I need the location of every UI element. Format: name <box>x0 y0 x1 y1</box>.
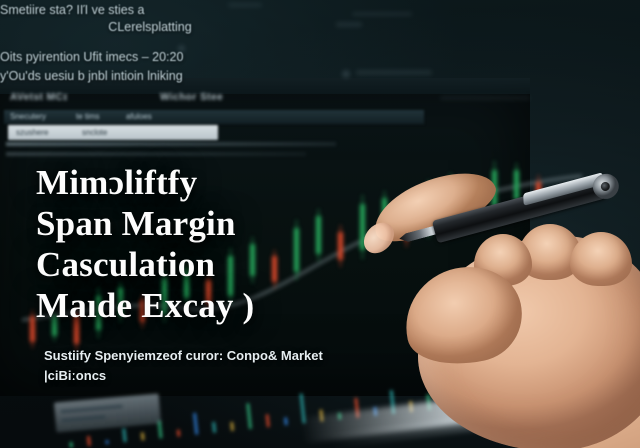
volume-bar <box>105 440 108 444</box>
tooltip-line-2 <box>61 415 105 422</box>
volume-bar <box>141 432 145 440</box>
column-header-left: AVetst MCɪ <box>10 92 68 103</box>
volume-bar <box>212 422 216 433</box>
ui-blob-2 <box>336 22 362 27</box>
tab-1[interactable]: szushere <box>16 128 48 137</box>
terminal-data-row-1 <box>6 142 336 146</box>
candle-wick <box>32 310 33 348</box>
ui-blob-1 <box>352 12 412 16</box>
ui-blob-5 <box>440 96 530 100</box>
overlay-line-4: y'Ou'ds uesiu b jnbl intioin lniking <box>0 68 300 85</box>
volume-bar <box>284 417 288 425</box>
headline-line-1: Mimɔliftfy <box>36 162 366 203</box>
toolbar-item-1[interactable]: Snecutery <box>10 112 46 121</box>
terminal-tabs[interactable]: szushere snclote <box>8 125 218 140</box>
tooltip-line-1 <box>61 405 123 413</box>
headline: Mimɔliftfy Span Margin Casculation Maıde… <box>36 162 366 326</box>
volume-bar <box>246 403 252 429</box>
tab-2[interactable]: snclote <box>82 128 107 137</box>
ui-blob-4 <box>356 70 432 75</box>
volume-bar <box>87 436 91 446</box>
overlay-line-2: CLerelsplatting <box>0 19 300 36</box>
toolbar-item-3[interactable]: afuloes <box>126 112 152 121</box>
overlay-line-1: Smetiire sta? ΙΙΊ ve sties a <box>0 2 300 19</box>
hand-holding-pen <box>398 176 640 448</box>
headline-line-4: Maıde Excay ) <box>36 285 366 326</box>
volume-bar <box>177 429 181 436</box>
subtitle-line-2: |ᴄiBiːoncs <box>44 366 364 386</box>
column-header-right: Wichor Stee <box>160 92 223 103</box>
overlay-text-block: Smetiire sta? ΙΙΊ ve sties a CLerelsplat… <box>0 0 300 85</box>
terminal-toolbar[interactable]: Snecutery te tims afuloes <box>4 110 424 124</box>
overlay-line-3: Oits pyirention Ufit imecs – 20:20 <box>0 49 300 66</box>
knuckle-2 <box>570 232 632 286</box>
subtitle-line-1: Sustiify Spenyiemzeof curor: Conpo& Mark… <box>44 346 364 366</box>
toolbar-item-2[interactable]: te tims <box>76 112 100 121</box>
ui-blob-3 <box>342 70 350 78</box>
volume-bar <box>230 422 234 431</box>
headline-line-3: Casculation <box>36 244 366 285</box>
candle <box>30 316 35 342</box>
volume-bar <box>266 414 270 427</box>
volume-bar <box>193 413 198 435</box>
volume-bar <box>69 442 73 448</box>
subtitle: Sustiify Spenyiemzeof curor: Conpo& Mark… <box>44 346 364 386</box>
banner-image: AVetst MCɪ Wichor Stee Snecutery te tims… <box>0 0 640 448</box>
volume-bar <box>122 428 126 442</box>
headline-line-2: Span Margin <box>36 203 366 244</box>
terminal-column-headers: AVetst MCɪ Wichor Stee <box>6 92 306 110</box>
